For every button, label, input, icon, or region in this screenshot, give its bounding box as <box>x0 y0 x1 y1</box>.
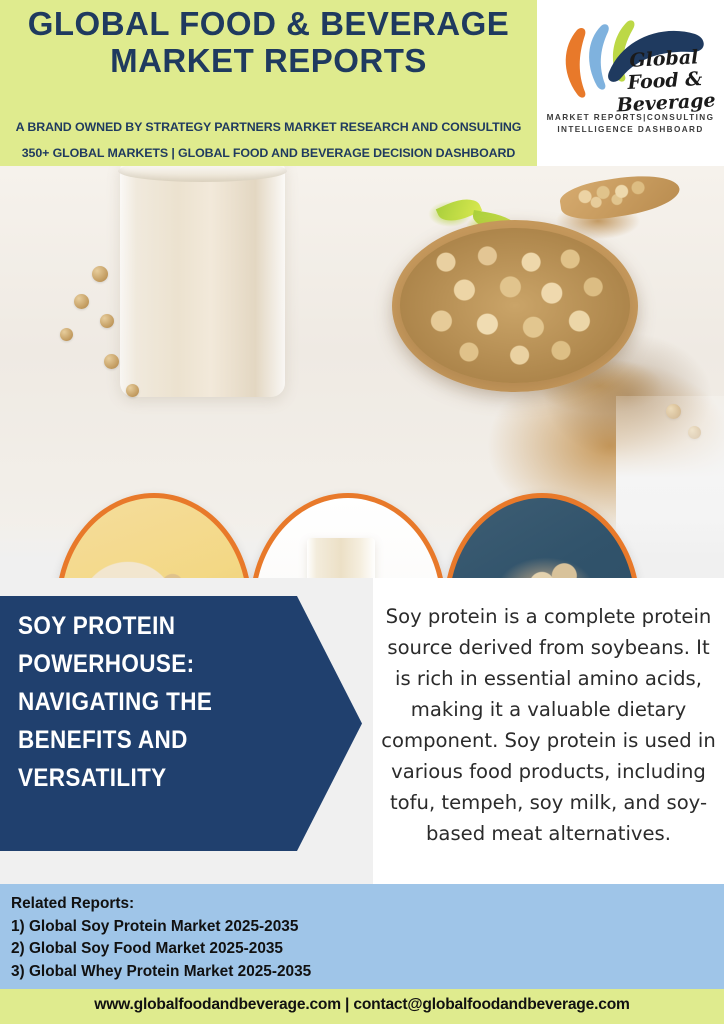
wooden-bowl-soybeans <box>400 228 630 383</box>
related-report-item-3[interactable]: 3) Global Whey Protein Market 2025-2035 <box>11 961 711 984</box>
soy-milk-glass-large <box>120 166 285 397</box>
logo-wordmark-line-2: Food & Beverage <box>609 67 723 117</box>
logo-tagline: MARKET REPORTS|CONSULTING INTELLIGENCE D… <box>537 112 724 136</box>
related-reports-heading: Related Reports: <box>11 893 711 916</box>
brand-logo: Global Food & Beverage MARKET REPORTS|CO… <box>537 0 724 166</box>
contact-bar: www.globalfoodandbeverage.com | contact@… <box>0 989 724 1024</box>
header-subtitle-brand: A BRAND OWNED BY STRATEGY PARTNERS MARKE… <box>0 120 537 134</box>
related-reports-section: Related Reports: 1) Global Soy Protein M… <box>0 884 724 989</box>
feature-body-panel: Soy protein is a complete protein source… <box>373 578 724 884</box>
feature-headline: SOY PROTEIN POWERHOUSE: NAVIGATING THE B… <box>18 607 259 797</box>
feature-body-text: Soy protein is a complete protein source… <box>381 601 716 849</box>
soybean-speck <box>126 384 139 397</box>
soybean-speck <box>100 314 114 328</box>
soy-milk-glass-small <box>307 538 375 578</box>
feature-headline-line-1: SOY PROTEIN <box>18 607 259 645</box>
header-subtitle-markets: 350+ GLOBAL MARKETS | GLOBAL FOOD AND BE… <box>0 146 537 160</box>
logo-tagline-line-1: MARKET REPORTS|CONSULTING <box>537 112 724 124</box>
page-header: GLOBAL FOOD & BEVERAGE MARKET REPORTS A … <box>0 0 724 166</box>
logo-wordmark: Global Food & Beverage <box>607 45 722 117</box>
logo-tagline-line-2: INTELLIGENCE DASHBOARD <box>537 124 724 136</box>
related-report-item-2[interactable]: 2) Global Soy Food Market 2025-2035 <box>11 938 711 961</box>
feature-headline-line-2: POWERHOUSE: <box>18 645 259 683</box>
page-title: GLOBAL FOOD & BEVERAGE MARKET REPORTS <box>0 5 537 79</box>
hero-image-collage <box>0 166 724 578</box>
feature-headline-line-5: VERSATILITY <box>18 759 259 797</box>
soybean-speck <box>92 266 108 282</box>
feature-headline-line-3: NAVIGATING THE <box>18 683 259 721</box>
related-reports-list: Related Reports: 1) Global Soy Protein M… <box>11 893 711 983</box>
soybean-speck <box>104 354 119 369</box>
feature-headline-line-4: BENEFITS AND <box>18 721 259 759</box>
poster-page: GLOBAL FOOD & BEVERAGE MARKET REPORTS A … <box>0 0 724 1024</box>
contact-text[interactable]: www.globalfoodandbeverage.com | contact@… <box>0 996 724 1014</box>
related-report-item-1[interactable]: 1) Global Soy Protein Market 2025-2035 <box>11 916 711 939</box>
soybean-speck <box>60 328 73 341</box>
feature-section: Soy protein is a complete protein source… <box>0 578 724 884</box>
soybean-speck <box>74 294 89 309</box>
